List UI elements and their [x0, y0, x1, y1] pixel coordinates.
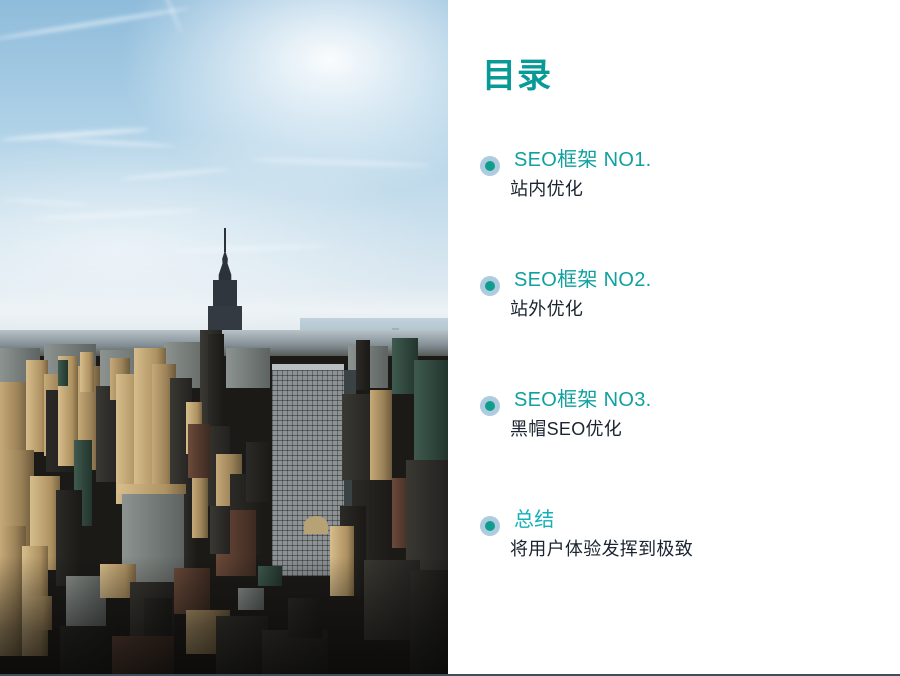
table-of-contents: SEO框架 NO1. 站内优化 SEO框架 NO2. 站外优化 SEO框架 NO…	[448, 0, 900, 676]
content-panel: 目录 SEO框架 NO1. 站内优化 SEO框架 NO2. 站外优化 SEO框架…	[448, 0, 900, 676]
toc-item-heading: 总结	[514, 503, 555, 532]
bullet-dot-icon	[480, 276, 500, 296]
toc-item-subtitle: 将用户体验发挥到极致	[510, 535, 693, 561]
bullet-dot-icon	[480, 396, 500, 416]
city-skyline-photo	[0, 0, 448, 676]
bullet-dot-icon	[480, 516, 500, 536]
dense-city-blocks	[0, 330, 448, 676]
toc-item-subtitle: 黑帽SEO优化	[510, 415, 622, 441]
toc-item-subtitle: 站内优化	[510, 175, 583, 201]
toc-item-heading: SEO框架 NO2.	[514, 263, 651, 292]
toc-item-heading: SEO框架 NO3.	[514, 383, 651, 412]
toc-item-heading: SEO框架 NO1.	[514, 143, 651, 172]
toc-item-subtitle: 站外优化	[510, 295, 583, 321]
bullet-dot-icon	[480, 156, 500, 176]
slide-canvas: 目录 SEO框架 NO1. 站内优化 SEO框架 NO2. 站外优化 SEO框架…	[0, 0, 900, 676]
